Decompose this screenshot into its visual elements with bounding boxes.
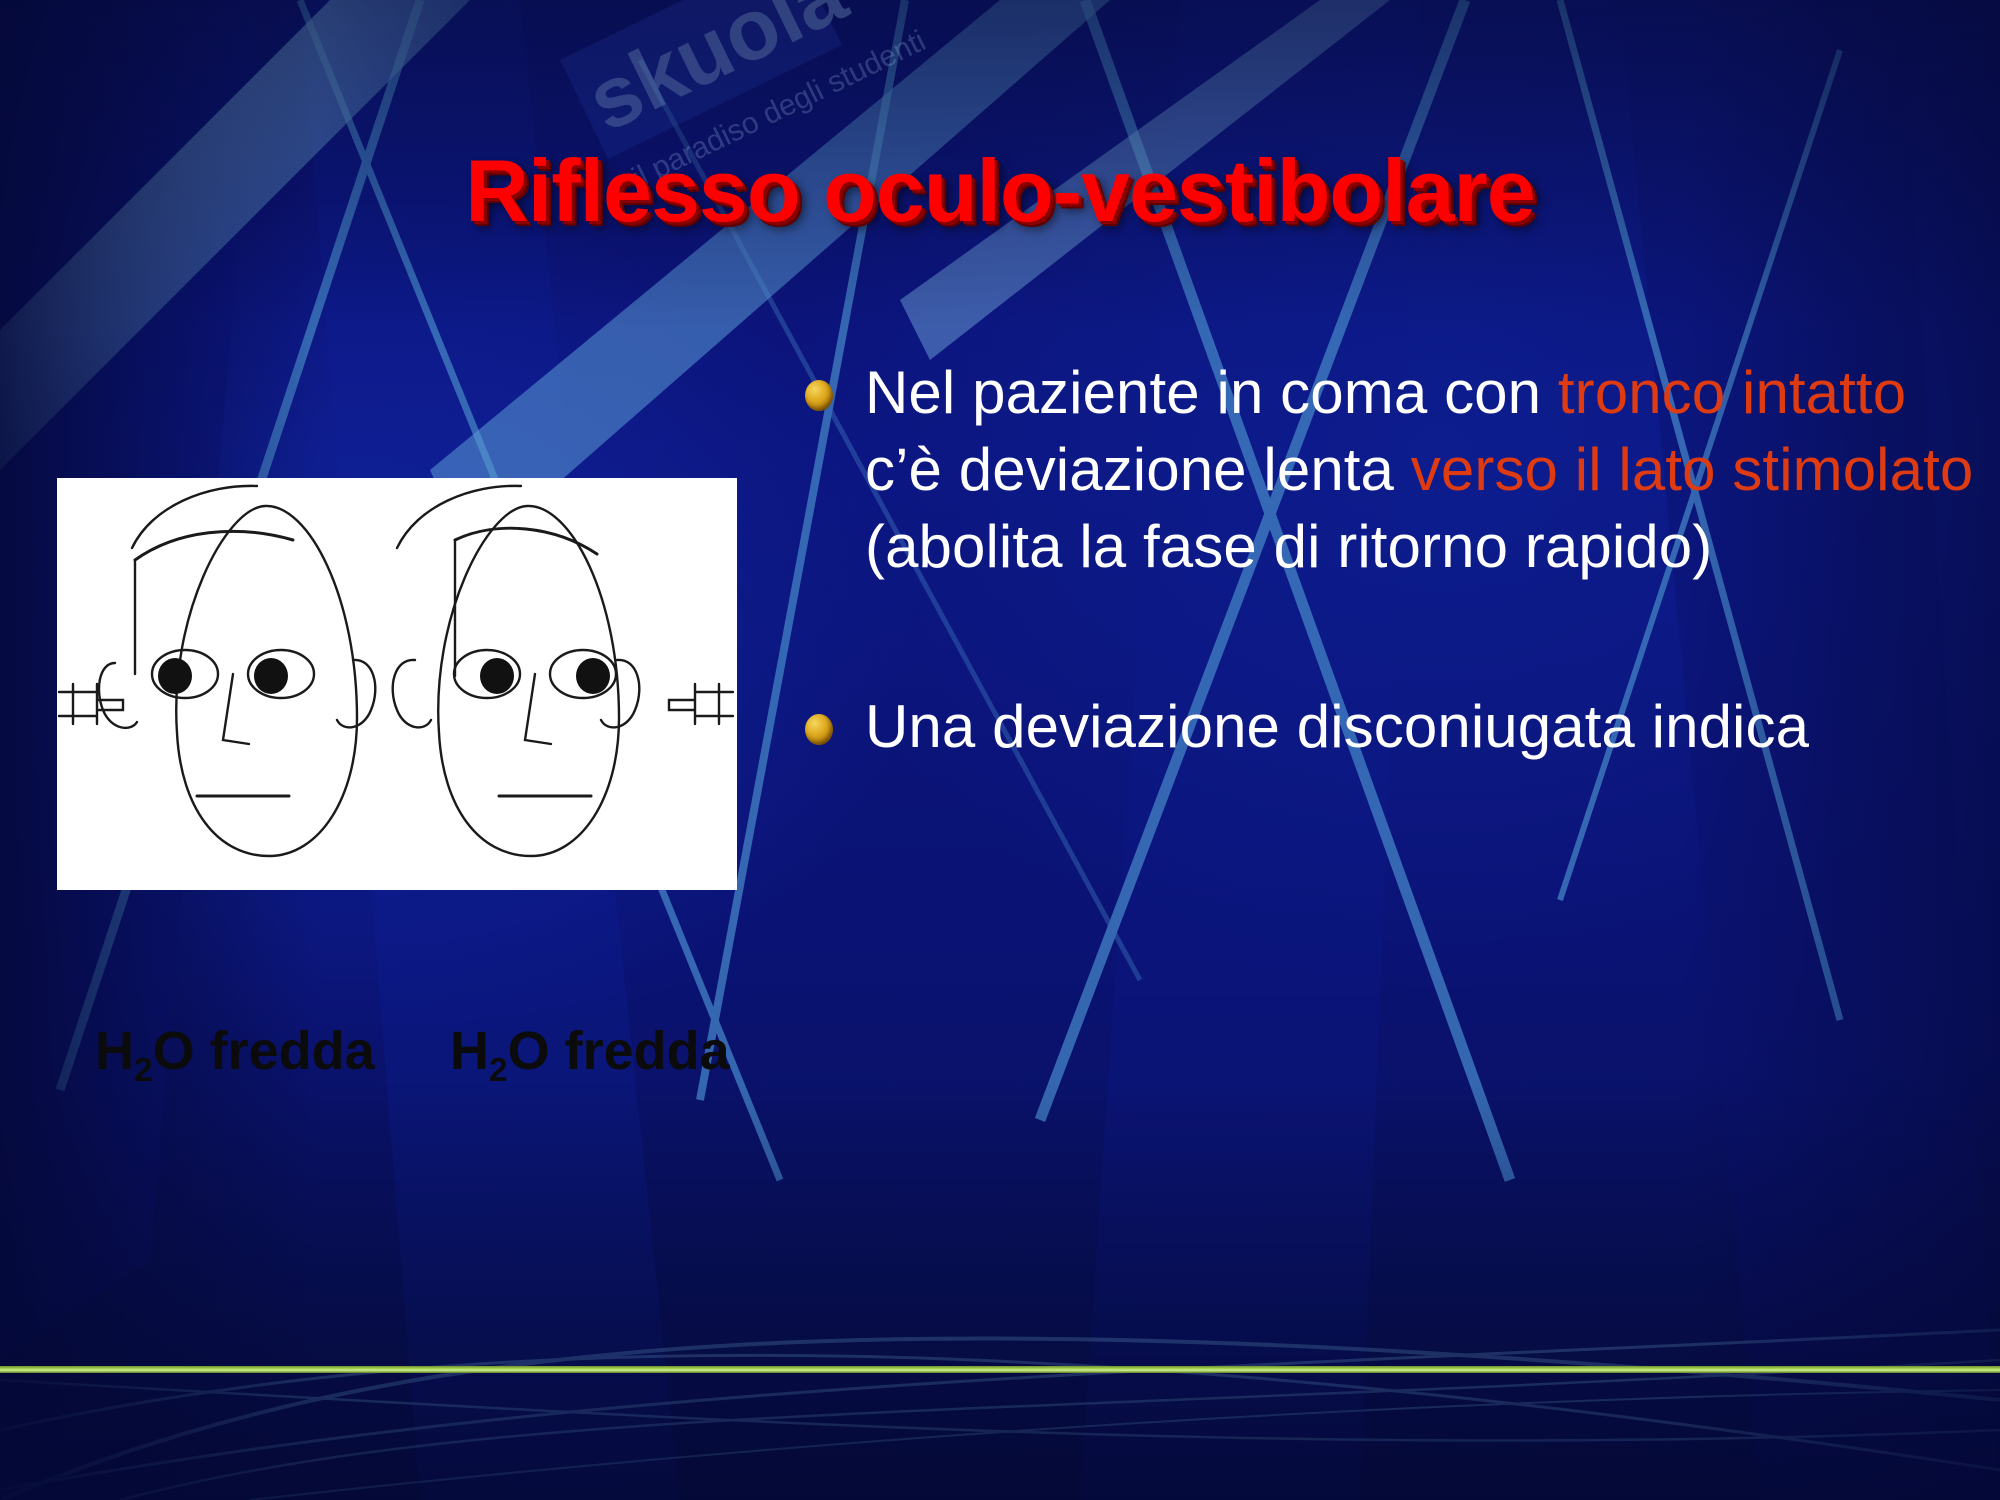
- bullet-1-seg-0: Nel paziente in coma con: [865, 359, 1558, 426]
- two-faces-cold-water-illustration: [57, 478, 737, 890]
- bullet-ball-icon: [805, 714, 833, 746]
- caption-left-h: H: [95, 1021, 134, 1081]
- bullet-ball-icon: [805, 380, 833, 412]
- presentation-slide: skuola .net il paradiso degli studenti R…: [0, 0, 2000, 1500]
- caption-right-rest: O fredda: [508, 1021, 730, 1081]
- bullet-1-seg-3: verso il lato stimolato: [1411, 436, 1974, 503]
- page-title: Riflesso oculo-vestibolare: [0, 140, 2000, 242]
- caption-left-subscript: 2: [134, 1052, 153, 1089]
- caption-right-subscript: 2: [489, 1052, 508, 1089]
- bullet-1-seg-2: c’è deviazione lenta: [865, 436, 1411, 503]
- accent-divider: [0, 1366, 2000, 1373]
- bullet-text-1: Nel paziente in coma con tronco intatto …: [865, 355, 1985, 585]
- figure-caption-left: H2O fredda: [95, 1020, 375, 1090]
- bullet-list: Nel paziente in coma con tronco intatto …: [805, 355, 1985, 766]
- bullet-gap: [805, 585, 1985, 689]
- list-item: Una deviazione disconiugata indica: [805, 689, 1985, 766]
- figure-caption-right: H2O fredda: [450, 1020, 730, 1090]
- bullet-2-seg-0: Una deviazione disconiugata indica: [865, 693, 1809, 760]
- list-item: Nel paziente in coma con tronco intatto …: [805, 355, 1985, 585]
- bullet-1-seg-4: (abolita la fase di ritorno rapido): [865, 513, 1712, 580]
- figure-panel: [57, 478, 737, 890]
- caption-left-rest: O fredda: [153, 1021, 375, 1081]
- caption-right-h: H: [450, 1021, 489, 1081]
- bullet-1-seg-1: tronco intatto: [1558, 359, 1906, 426]
- bullet-text-2: Una deviazione disconiugata indica: [865, 689, 1985, 766]
